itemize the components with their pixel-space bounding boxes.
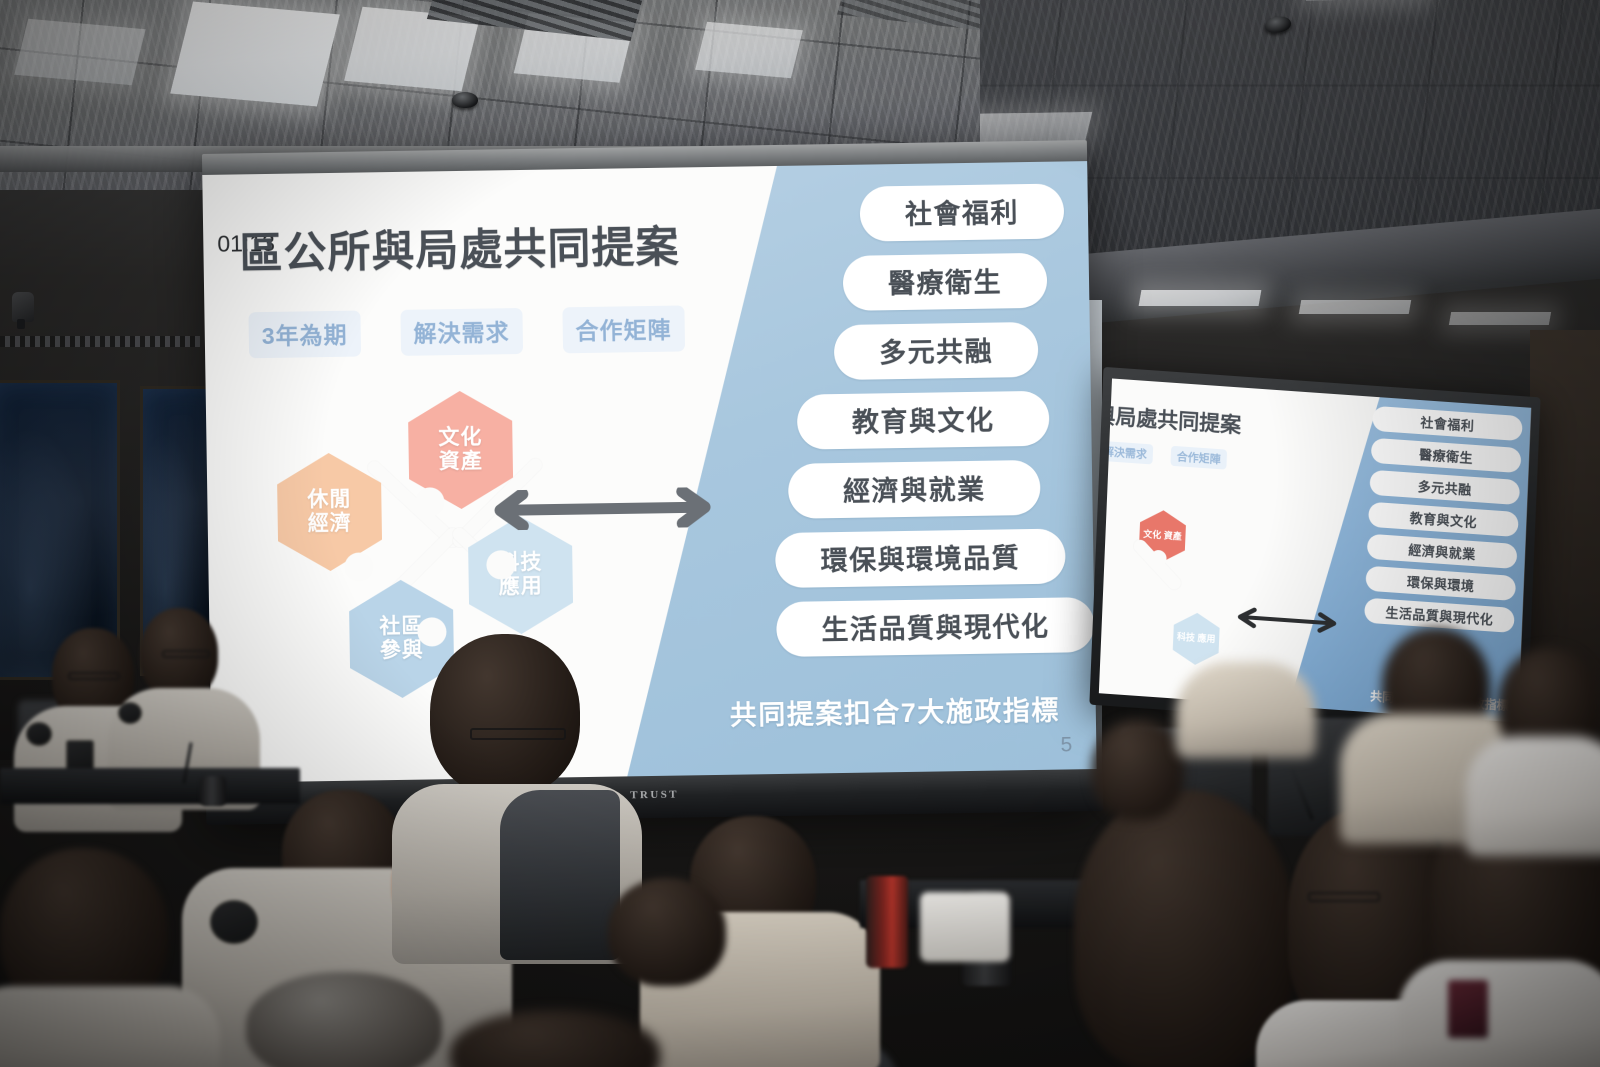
hex-label-line1: 社區	[379, 615, 423, 640]
policy-pill-social-welfare: 社會福利	[860, 183, 1065, 241]
hex-label-line2: 參與	[380, 639, 424, 664]
hex-label-line1: 文化	[438, 426, 482, 451]
slide-chip-row: 3年為期 解決需求 合作矩陣	[248, 305, 684, 358]
right-wall	[1530, 330, 1600, 760]
monitor-policy-pill: 生活品質與現代化	[1364, 598, 1515, 633]
hex-node	[415, 487, 444, 516]
policy-pill-education-culture: 教育與文化	[797, 391, 1050, 450]
policy-pill-life-quality-modernization: 生活品質與現代化	[776, 597, 1095, 657]
ceiling-light-panel	[170, 1, 340, 106]
slide-title: 區公所與局處共同提案	[239, 213, 680, 282]
screenshot-root: 01:13 區公所與局處共同提案 3年為期 解決需求 合作矩陣 休閒 經濟	[0, 0, 1600, 1067]
monitor-policy-pill: 教育與文化	[1368, 502, 1519, 537]
hex-label-line1: 休閒	[307, 488, 351, 513]
background-light	[1299, 300, 1411, 314]
slide-page-number: 5	[1060, 733, 1072, 757]
hex-node	[344, 552, 373, 581]
monitor-chip-row: 解決需求 合作矩陣	[1099, 441, 1227, 470]
policy-pill-economy-employment: 經濟與就業	[788, 460, 1041, 519]
hex-node	[1178, 594, 1193, 609]
hex-label-line2: 經濟	[308, 512, 352, 537]
hexagon-cluster: 休閒 經濟 文化 資產 社區 參與	[266, 386, 641, 732]
wall-camera-icon	[12, 292, 34, 322]
background-light	[1449, 312, 1551, 325]
hex-label-line2: 資產	[1164, 530, 1182, 541]
hex-label-line1: 文化	[1143, 529, 1161, 540]
framed-artwork	[0, 380, 120, 680]
slide-chip: 解決需求	[400, 308, 523, 356]
monitor-slide-title: 與局處共同提案	[1099, 399, 1242, 439]
monitor-policy-pill: 環保與環境	[1365, 566, 1516, 601]
monitor-chip: 合作矩陣	[1170, 446, 1227, 470]
background-light	[1139, 290, 1262, 306]
wall-vent	[0, 336, 200, 347]
monitor-policy-pill: 醫療衛生	[1371, 438, 1522, 473]
slide-chip: 合作矩陣	[562, 305, 685, 353]
monitor-hexagon-technology-application: 科技 應用	[1172, 611, 1220, 666]
hex-label-line2: 應用	[1197, 633, 1215, 644]
ceiling-light-panel	[14, 19, 145, 85]
policy-indicator-list: 社會福利 醫療衛生 多元共融 教育與文化 經濟與就業 環保與環境品質 生活品質與…	[770, 183, 1078, 671]
monitor-screen: 與局處共同提案 解決需求 合作矩陣 文化 資產 科技 應用	[1099, 378, 1531, 722]
monitor-policy-pill: 多元共融	[1369, 470, 1520, 505]
monitor-policy-list: 社會福利 醫療衛生 多元共融 教育與文化 經濟與就業 環保與環境 生活品質與現代…	[1364, 406, 1523, 640]
presentation-slide: 01:13 區公所與局處共同提案 3年為期 解決需求 合作矩陣 休閒 經濟	[202, 161, 1096, 785]
policy-pill-environment-quality: 環保與環境品質	[775, 528, 1066, 588]
monitor-policy-pill: 經濟與就業	[1367, 534, 1518, 569]
slide-footer-note: 共同提案扣合7大施政指標	[729, 689, 1060, 733]
slide-chip: 3年為期	[248, 311, 361, 359]
hexagon-technology-application: 科技 應用	[468, 515, 574, 635]
bidirectional-arrow-icon	[482, 487, 723, 531]
secondary-monitor: 與局處共同提案 解決需求 合作矩陣 文化 資產 科技 應用	[1099, 378, 1531, 722]
projector-screen: 01:13 區公所與局處共同提案 3年為期 解決需求 合作矩陣 休閒 經濟	[202, 161, 1096, 785]
screen-brand-label: TRUST	[630, 789, 679, 802]
hex-label-line2: 資產	[439, 450, 483, 475]
hex-label-line1: 科技	[1177, 632, 1195, 643]
left-wall	[0, 300, 215, 760]
policy-pill-diversity-inclusion: 多元共融	[834, 322, 1039, 380]
ceiling-light-panel	[695, 22, 803, 79]
policy-pill-medical-health: 醫療衛生	[843, 253, 1048, 311]
dome-camera-icon	[452, 92, 478, 108]
